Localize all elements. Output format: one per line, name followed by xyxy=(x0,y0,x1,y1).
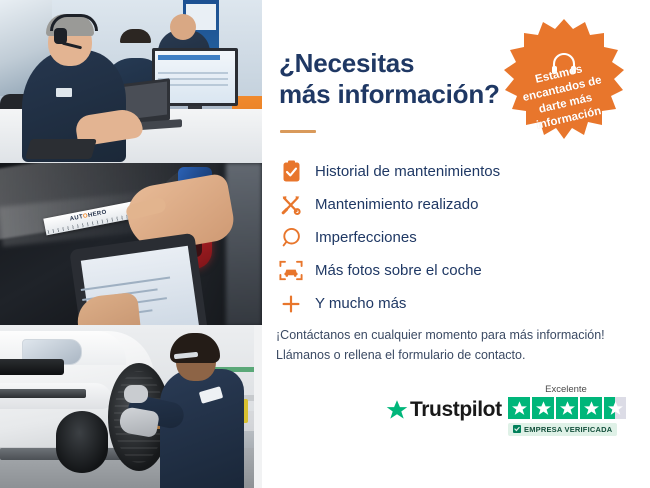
car-scan-icon xyxy=(274,258,308,284)
list-item-label: Mantenimiento realizado xyxy=(308,196,478,213)
list-item: Historial de mantenimientos xyxy=(274,155,634,188)
page-title-line-1: ¿Necesitas xyxy=(279,48,509,79)
plus-icon xyxy=(274,291,308,317)
call-center-agents-photo xyxy=(0,0,262,163)
page-title-line-2: más información? xyxy=(279,79,509,110)
status-badge: EMPRESA VERIFICADA xyxy=(508,423,617,436)
list-item: Mantenimiento realizado xyxy=(274,188,634,221)
star-icon xyxy=(508,397,530,419)
star-icon xyxy=(580,397,602,419)
contact-paragraph: ¡Contáctanos en cualquier momento para m… xyxy=(276,325,636,365)
photo-edge-strip xyxy=(254,325,262,488)
rating-label: Excelente xyxy=(508,384,624,395)
monitor-screen-header xyxy=(158,55,220,60)
monitor-screen-row xyxy=(158,72,228,74)
car-grille xyxy=(0,359,64,375)
list-item-label: Más fotos sobre el coche xyxy=(308,262,482,279)
background-blur xyxy=(226,163,262,326)
list-item: Y mucho más xyxy=(274,287,634,320)
agent-three-head xyxy=(170,14,196,40)
trustpilot-rating: Excelente xyxy=(508,384,650,437)
magnifier-icon xyxy=(274,225,308,251)
star-icon xyxy=(532,397,554,419)
car-inspection-ruler-photo: AUTOHERO xyxy=(0,163,262,326)
trustpilot-wordmark: Trustpilot xyxy=(410,398,502,422)
rear-tire xyxy=(56,411,108,473)
list-item-label: Imperfecciones xyxy=(308,229,417,246)
star-rating xyxy=(508,397,650,419)
page-title: ¿Necesitas más información? xyxy=(279,48,509,110)
contact-paragraph-line-2: Llámanos o rellena el formulario de cont… xyxy=(276,345,636,365)
mechanic-tire-photo xyxy=(0,325,262,488)
promo-card: AUTOHERO xyxy=(0,0,650,488)
clipboard-check-icon xyxy=(274,159,308,185)
list-item: Más fotos sobre el coche xyxy=(274,254,634,287)
bumper-vent xyxy=(0,389,86,398)
star-icon xyxy=(556,397,578,419)
name-badge xyxy=(56,88,72,97)
content-panel: ¿Necesitas más información? Estamos enca… xyxy=(262,0,650,488)
trustpilot-block: Trustpilot Excelente xyxy=(386,384,650,450)
desk-tablet xyxy=(25,139,97,159)
title-divider xyxy=(280,130,316,133)
contact-paragraph-line-1: ¡Contáctanos en cualquier momento para m… xyxy=(276,325,636,345)
status-badge-label: EMPRESA VERIFICADA xyxy=(524,425,612,434)
star-icon-half xyxy=(604,397,626,419)
list-item-label: Y mucho más xyxy=(308,295,406,312)
list-item-label: Historial de mantenimientos xyxy=(308,163,500,180)
crossed-tools-icon xyxy=(274,192,308,218)
photo-strip: AUTOHERO xyxy=(0,0,262,488)
feature-list: Historial de mantenimientos M xyxy=(274,155,634,320)
star-icon xyxy=(386,399,408,421)
check-icon xyxy=(513,425,521,433)
list-item: Imperfecciones xyxy=(274,221,634,254)
agent-two-hair xyxy=(120,29,151,43)
trustpilot-logo[interactable]: Trustpilot xyxy=(386,398,502,422)
support-badge: Estamos encantados de darte más informac… xyxy=(499,17,629,147)
mechanic-body xyxy=(160,369,244,488)
mechanic-glove-upper xyxy=(124,385,148,403)
